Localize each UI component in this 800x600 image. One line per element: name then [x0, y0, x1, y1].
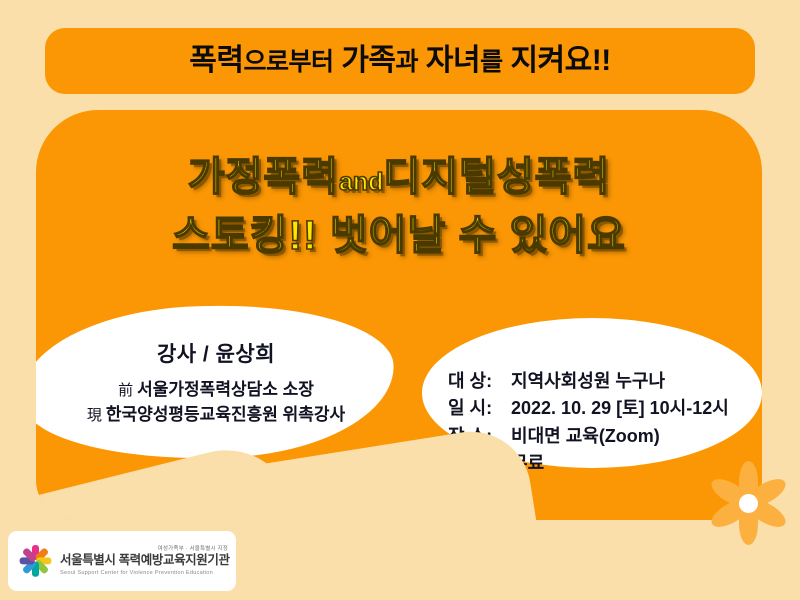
instructor-role-current: 한국양성평등교육진흥원 위촉강사 — [106, 405, 345, 424]
main-content-panel: 가정폭력and디지털성폭력 스토킹!! 벗어날 수 있어요 강사 / 윤상희 前… — [36, 110, 762, 520]
instructor-block: 강사 / 윤상희 前서울가정폭력상담소 소장 現한국양성평등교육진흥원 위촉강사 — [36, 338, 396, 427]
banner-segment-3: 가족 — [333, 44, 395, 77]
headline-line-2: 스토킹!! 벗어날 수 있어요 — [36, 206, 762, 265]
detail-row-audience: 대 상: 지역사회성원 누구나 — [448, 368, 729, 395]
pinwheel-logo-icon — [16, 542, 54, 580]
banner-segment-6: 를 — [480, 48, 503, 76]
detail-value-audience: 지역사회성원 누구나 — [511, 371, 665, 391]
headline-topic-1: 가정폭력 — [188, 155, 339, 199]
detail-row-datetime: 일 시: 2022. 10. 29 [토] 10시-12시 — [448, 395, 729, 422]
poster-canvas: 폭력으로부터 가족과 자녀를 지켜요!! 가정폭력and디지털성폭력 스토킹!!… — [0, 0, 800, 600]
banner-segment-1: 폭력 — [189, 44, 243, 77]
logo-organization-name: 서울특별시 폭력예방교육지원기관 — [60, 554, 228, 568]
instructor-name: 강사 / 윤상희 — [36, 338, 396, 368]
flower-decoration-icon — [700, 455, 796, 551]
headline-topic-2: 디지털성폭력 — [383, 155, 610, 199]
instructor-marker-former: 前 — [118, 382, 133, 399]
logo-text-block: 여성가족부 · 서울특별시 지정 서울특별시 폭력예방교육지원기관 Seoul … — [60, 546, 228, 576]
detail-label-audience: 대 상: — [448, 368, 506, 395]
banner-segment-4: 과 — [396, 48, 419, 76]
banner-segment-5: 자녀 — [418, 44, 480, 77]
banner-segment-7: 지켜요!! — [503, 44, 611, 77]
instructor-history-row: 現한국양성평등교육진흥원 위촉강사 — [36, 403, 396, 428]
banner-text: 폭력으로부터 가족과 자녀를 지켜요!! — [189, 46, 610, 76]
detail-label-datetime: 일 시: — [448, 395, 506, 422]
logo-designation-line: 여성가족부 · 서울특별시 지정 — [60, 546, 228, 552]
organization-logo-badge: 여성가족부 · 서울특별시 지정 서울특별시 폭력예방교육지원기관 Seoul … — [8, 531, 236, 591]
detail-value-datetime: 2022. 10. 29 [토] 10시-12시 — [511, 398, 729, 418]
logo-organization-name-english: Seoul Support Center for Violence Preven… — [60, 570, 228, 576]
headline-banner: 폭력으로부터 가족과 자녀를 지켜요!! — [45, 28, 755, 94]
detail-value-location: 비대면 교육(Zoom) — [511, 426, 660, 446]
banner-segment-2: 으로부터 — [243, 48, 333, 76]
instructor-role-former: 서울가정폭력상담소 소장 — [137, 380, 314, 399]
instructor-marker-current: 現 — [87, 407, 102, 424]
headline-conjunction: and — [339, 168, 383, 196]
flower-center — [739, 494, 758, 513]
instructor-history-row: 前서울가정폭력상담소 소장 — [36, 378, 396, 403]
headline-line-1: 가정폭력and디지털성폭력 — [36, 148, 762, 206]
poster-headline: 가정폭력and디지털성폭력 스토킹!! 벗어날 수 있어요 — [36, 148, 762, 265]
